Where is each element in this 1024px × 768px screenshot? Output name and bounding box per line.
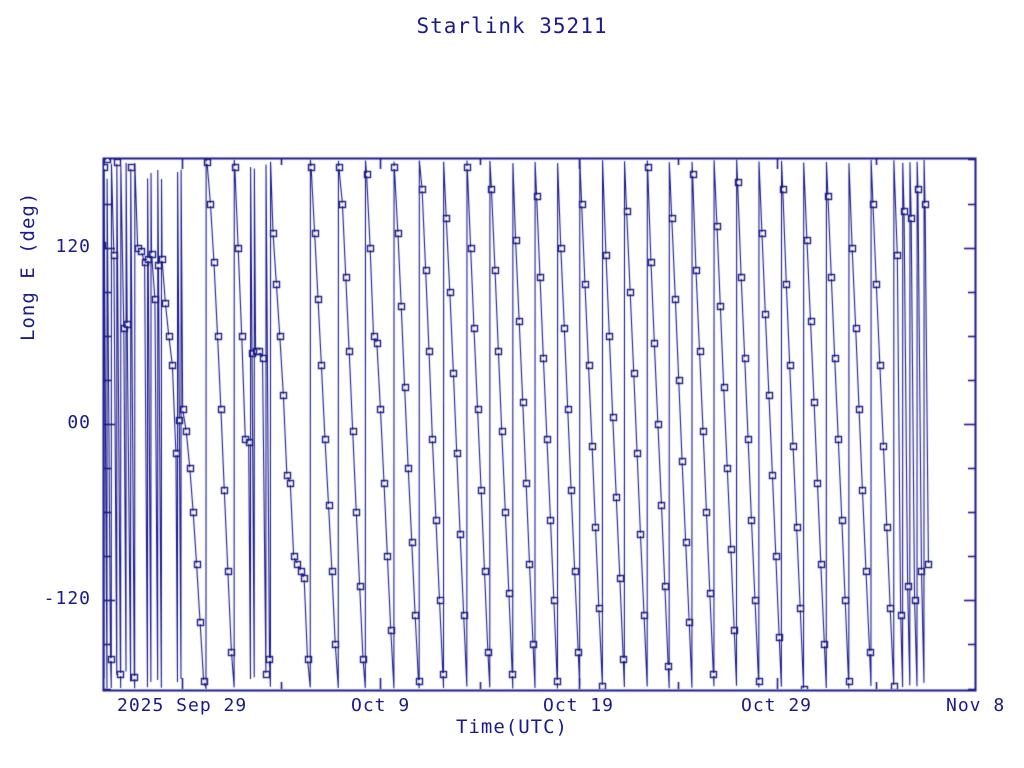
x-axis-title: Time(UTC)	[0, 716, 1024, 738]
y-axis-title: Long E (deg)	[17, 281, 39, 341]
x-tick-label: Oct 9	[351, 695, 410, 716]
y-tick-label: 00	[67, 412, 91, 433]
y-tick-label: 120	[55, 236, 91, 257]
x-tick-label: Nov 8	[946, 695, 1005, 716]
y-tick-label: -120	[44, 588, 91, 609]
x-tick-label: 2025 Sep 29	[117, 695, 247, 716]
longitude-time-plot	[0, 0, 1024, 768]
x-tick-label: Oct 19	[543, 695, 614, 716]
x-tick-label: Oct 29	[741, 695, 812, 716]
chart-page: Starlink 35211 Long E (deg) Time(UTC) 12…	[0, 0, 1024, 768]
